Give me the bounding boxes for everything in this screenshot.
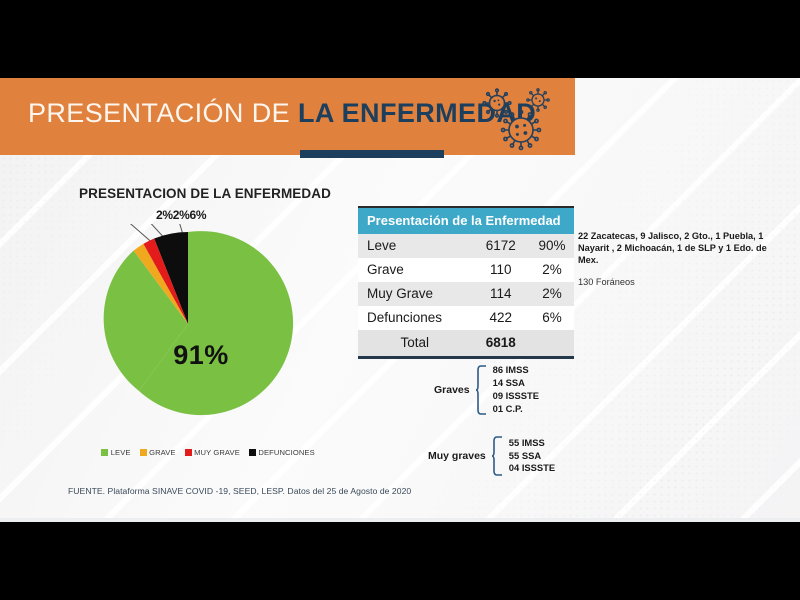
cell-label-total: Total bbox=[358, 330, 471, 358]
cell-pct-leve: 90% bbox=[530, 234, 574, 258]
virus-icons-group bbox=[476, 86, 568, 152]
legend-label-defunciones: DEFUNCIONES bbox=[258, 448, 314, 457]
states-breakdown-note: 22 Zacatecas, 9 Jalisco, 2 Gto., 1 Puebl… bbox=[578, 230, 783, 266]
legend-swatch-defunciones bbox=[249, 449, 256, 456]
legend-label-grave: GRAVE bbox=[149, 448, 176, 457]
pie-chart-graphic: 91% bbox=[72, 224, 330, 444]
legend-item-muy-grave: MUY GRAVE bbox=[185, 448, 240, 457]
muy-graves-items: 55 IMSS 55 SSA 04 ISSSTE bbox=[509, 437, 555, 475]
pie-svg bbox=[72, 224, 330, 444]
cell-count-defunciones: 422 bbox=[471, 306, 530, 330]
title-underline-accent bbox=[300, 150, 444, 158]
foraneos-note: 130 Foráneos bbox=[578, 277, 635, 287]
coronavirus-icon bbox=[476, 86, 568, 152]
cell-label-muy-grave: Muy Grave bbox=[358, 282, 471, 306]
table-row: Defunciones 422 6% bbox=[358, 306, 574, 330]
table-total-row: Total 6818 bbox=[358, 330, 574, 358]
table-header-cell: Presentación de la Enfermedad bbox=[358, 207, 574, 234]
pie-slice-percent-labels: 2%2%6% bbox=[156, 208, 206, 222]
page-title: PRESENTACIÓN DE LA ENFERMEDAD bbox=[28, 98, 536, 129]
cell-pct-defunciones: 6% bbox=[530, 306, 574, 330]
cell-label-defunciones: Defunciones bbox=[358, 306, 471, 330]
page-title-light: PRESENTACIÓN DE bbox=[28, 98, 298, 128]
presentacion-enfermedad-table: Presentación de la Enfermedad Leve 6172 … bbox=[358, 206, 574, 359]
graves-item-1: 14 SSA bbox=[493, 377, 525, 388]
slide-bottom-edge bbox=[0, 518, 800, 522]
graves-item-0: 86 IMSS bbox=[493, 364, 529, 375]
legend-swatch-leve bbox=[101, 449, 108, 456]
legend-label-muy-grave: MUY GRAVE bbox=[194, 448, 240, 457]
graves-items: 86 IMSS 14 SSA 09 ISSSTE 01 C.P. bbox=[493, 364, 539, 415]
cell-count-muy-grave: 114 bbox=[471, 282, 530, 306]
cell-label-leve: Leve bbox=[358, 234, 471, 258]
graves-bracket-icon bbox=[475, 365, 487, 415]
legend-swatch-muy-grave bbox=[185, 449, 192, 456]
muy-graves-item-2: 04 ISSSTE bbox=[509, 462, 555, 473]
legend-swatch-grave bbox=[140, 449, 147, 456]
graves-item-3: 01 C.P. bbox=[493, 403, 523, 414]
pie-main-percent-label: 91% bbox=[72, 340, 330, 371]
cell-value-total: 6818 bbox=[471, 330, 530, 358]
cell-pct-muy-grave: 2% bbox=[530, 282, 574, 306]
legend-item-defunciones: DEFUNCIONES bbox=[249, 448, 315, 457]
muy-graves-bracket-icon bbox=[491, 436, 503, 476]
legend-label-leve: LEVE bbox=[111, 448, 131, 457]
legend-item-leve: LEVE bbox=[101, 448, 130, 457]
graves-item-2: 09 ISSSTE bbox=[493, 390, 539, 401]
muy-graves-item-0: 55 IMSS bbox=[509, 437, 545, 448]
slide-header-band: PRESENTACIÓN DE LA ENFERMEDAD bbox=[0, 78, 575, 155]
table-header-row: Presentación de la Enfermedad bbox=[358, 207, 574, 234]
cell-pct-total bbox=[530, 330, 574, 358]
muy-graves-label: Muy graves bbox=[428, 450, 486, 462]
source-footnote: FUENTE. Plataforma SINAVE COVID -19, SEE… bbox=[68, 486, 411, 496]
cell-label-grave: Grave bbox=[358, 258, 471, 282]
graves-label: Graves bbox=[434, 384, 470, 396]
cell-count-leve: 6172 bbox=[471, 234, 530, 258]
table-row: Leve 6172 90% bbox=[358, 234, 574, 258]
pie-chart-title: PRESENTACION DE LA ENFERMEDAD bbox=[60, 186, 350, 201]
cell-count-grave: 110 bbox=[471, 258, 530, 282]
video-viewport: PRESENTACIÓN DE LA ENFERMEDAD bbox=[0, 0, 800, 600]
table-row: Muy Grave 114 2% bbox=[358, 282, 574, 306]
presentation-slide: PRESENTACIÓN DE LA ENFERMEDAD bbox=[0, 78, 800, 518]
muy-graves-item-1: 55 SSA bbox=[509, 450, 541, 461]
table-row: Grave 110 2% bbox=[358, 258, 574, 282]
graves-breakdown-group: Graves 86 IMSS 14 SSA 09 ISSSTE 01 C.P. bbox=[434, 365, 539, 415]
pie-legend: LEVE GRAVE MUY GRAVE DEFUNCIONES bbox=[68, 448, 348, 457]
muy-graves-breakdown-group: Muy graves 55 IMSS 55 SSA 04 ISSSTE bbox=[428, 436, 555, 476]
pie-chart-block: PRESENTACION DE LA ENFERMEDAD 2%2%6% bbox=[60, 186, 350, 201]
legend-item-grave: GRAVE bbox=[140, 448, 176, 457]
cell-pct-grave: 2% bbox=[530, 258, 574, 282]
